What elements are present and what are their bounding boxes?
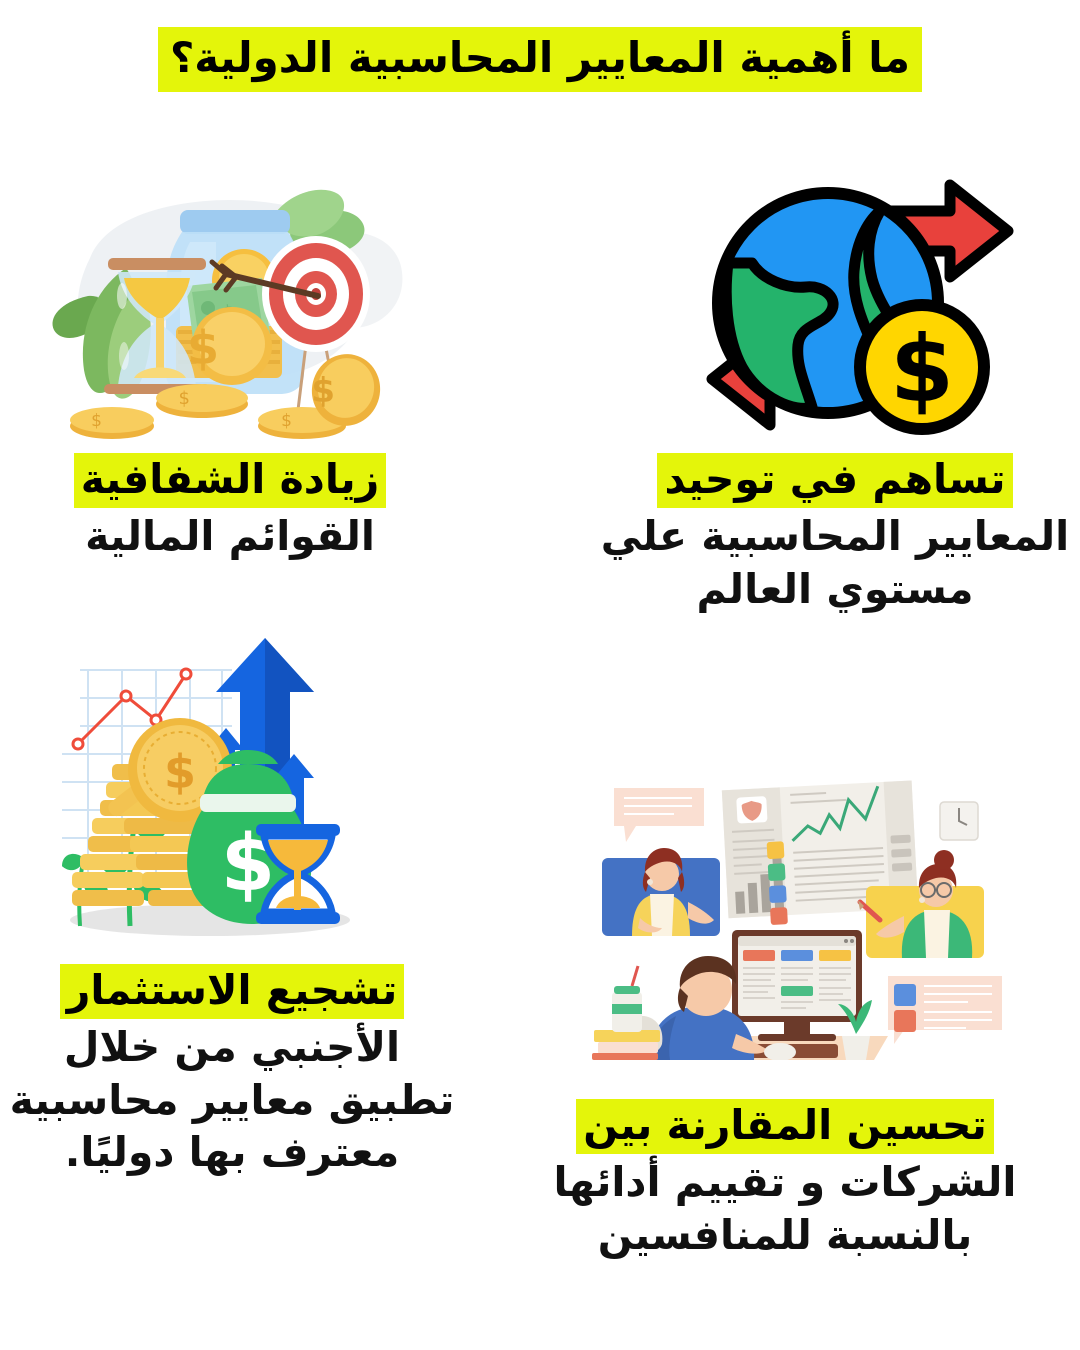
item-comparability-highlight: تحسين المقارنة بين <box>576 1099 994 1154</box>
money-jar-hourglass-target-illustration: $ $ $ <box>30 178 412 450</box>
svg-text:$: $ <box>281 411 292 431</box>
growth-chart-coins-moneybag-illustration: $ $ <box>50 628 382 950</box>
svg-text:$: $ <box>91 411 102 431</box>
item-comparability-body: الشركات و تقييم أدائها بالنسبة للمنافسين <box>500 1156 1070 1261</box>
item-unification-highlight: تساهم في توحيد <box>657 453 1012 508</box>
page-title-text: ما أهمية المعايير المحاسبية الدولية؟ <box>158 27 922 92</box>
item-transparency-body: القوائم المالية <box>10 510 450 562</box>
svg-text:$: $ <box>890 316 954 423</box>
svg-text:$: $ <box>311 371 335 411</box>
item-investment-body: الأجنبي من خلال تطبيق معايير محاسبية معت… <box>8 1021 456 1178</box>
item-unification-caption: تساهم في توحيد المعايير المحاسبية علي مس… <box>600 452 1070 615</box>
item-transparency-caption: زيادة الشفافية القوائم المالية <box>10 452 450 563</box>
globe-exchange-dollar-illustration: $ <box>700 175 1020 437</box>
item-investment-caption: تشجيع الاستثمار الأجنبي من خلال تطبيق مع… <box>8 963 456 1179</box>
item-transparency-highlight: زيادة الشفافية <box>74 453 386 508</box>
item-investment-highlight: تشجيع الاستثمار <box>60 964 405 1019</box>
infographic-page: ما أهمية المعايير المحاسبية الدولية؟ <box>0 0 1080 1350</box>
online-meeting-report-analysis-illustration <box>588 768 1022 1060</box>
svg-text:$: $ <box>179 388 190 409</box>
svg-text:$: $ <box>164 745 196 799</box>
page-title: ما أهمية المعايير المحاسبية الدولية؟ <box>0 28 1080 89</box>
item-unification-body: المعايير المحاسبية علي مستوي العالم <box>600 510 1070 615</box>
item-comparability-caption: تحسين المقارنة بين الشركات و تقييم أدائه… <box>500 1098 1070 1261</box>
